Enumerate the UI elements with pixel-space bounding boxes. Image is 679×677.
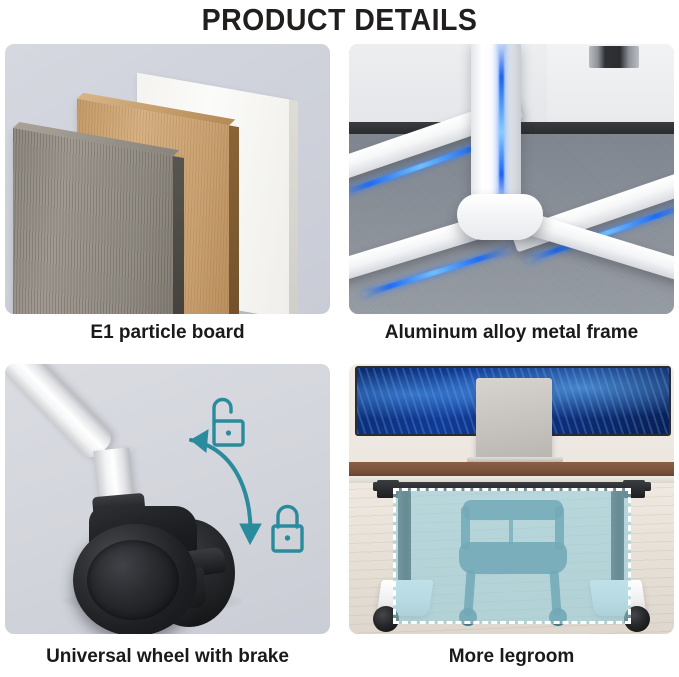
more-legroom-image [349,364,674,634]
legroom-highlight-area [393,488,631,624]
panel-universal-wheel: Universal wheel with brake [5,364,330,677]
mount-bracket-icon [589,46,639,68]
metal-frame-image [349,44,674,314]
caption-particle-board: E1 particle board [5,322,330,344]
particle-board-image [5,44,330,314]
caption-universal-wheel: Universal wheel with brake [5,646,330,668]
frame-joint-hub [457,194,543,240]
gray-board-edge [173,156,184,314]
gray-board [13,128,173,314]
white-board-edge [289,99,298,314]
laptop [476,378,552,460]
frame-center-column [471,44,521,218]
panel-metal-frame: Aluminum alloy metal frame [349,44,674,357]
caption-metal-frame: Aluminum alloy metal frame [349,322,674,344]
lock-indicator-group [5,364,330,634]
page-title: PRODUCT DETAILS [27,2,652,38]
blue-glow-column [499,44,504,208]
panel-more-legroom: More legroom [349,364,674,677]
panel-grid: E1 particle board Aluminum alloy metal f… [0,44,679,673]
unlock-icon [214,400,243,446]
oak-board-edge [229,125,239,314]
lock-icon [273,507,302,552]
rotation-arrow-icon [191,430,261,544]
universal-wheel-image [5,364,330,634]
caption-more-legroom: More legroom [349,646,674,668]
panel-particle-board: E1 particle board [5,44,330,357]
